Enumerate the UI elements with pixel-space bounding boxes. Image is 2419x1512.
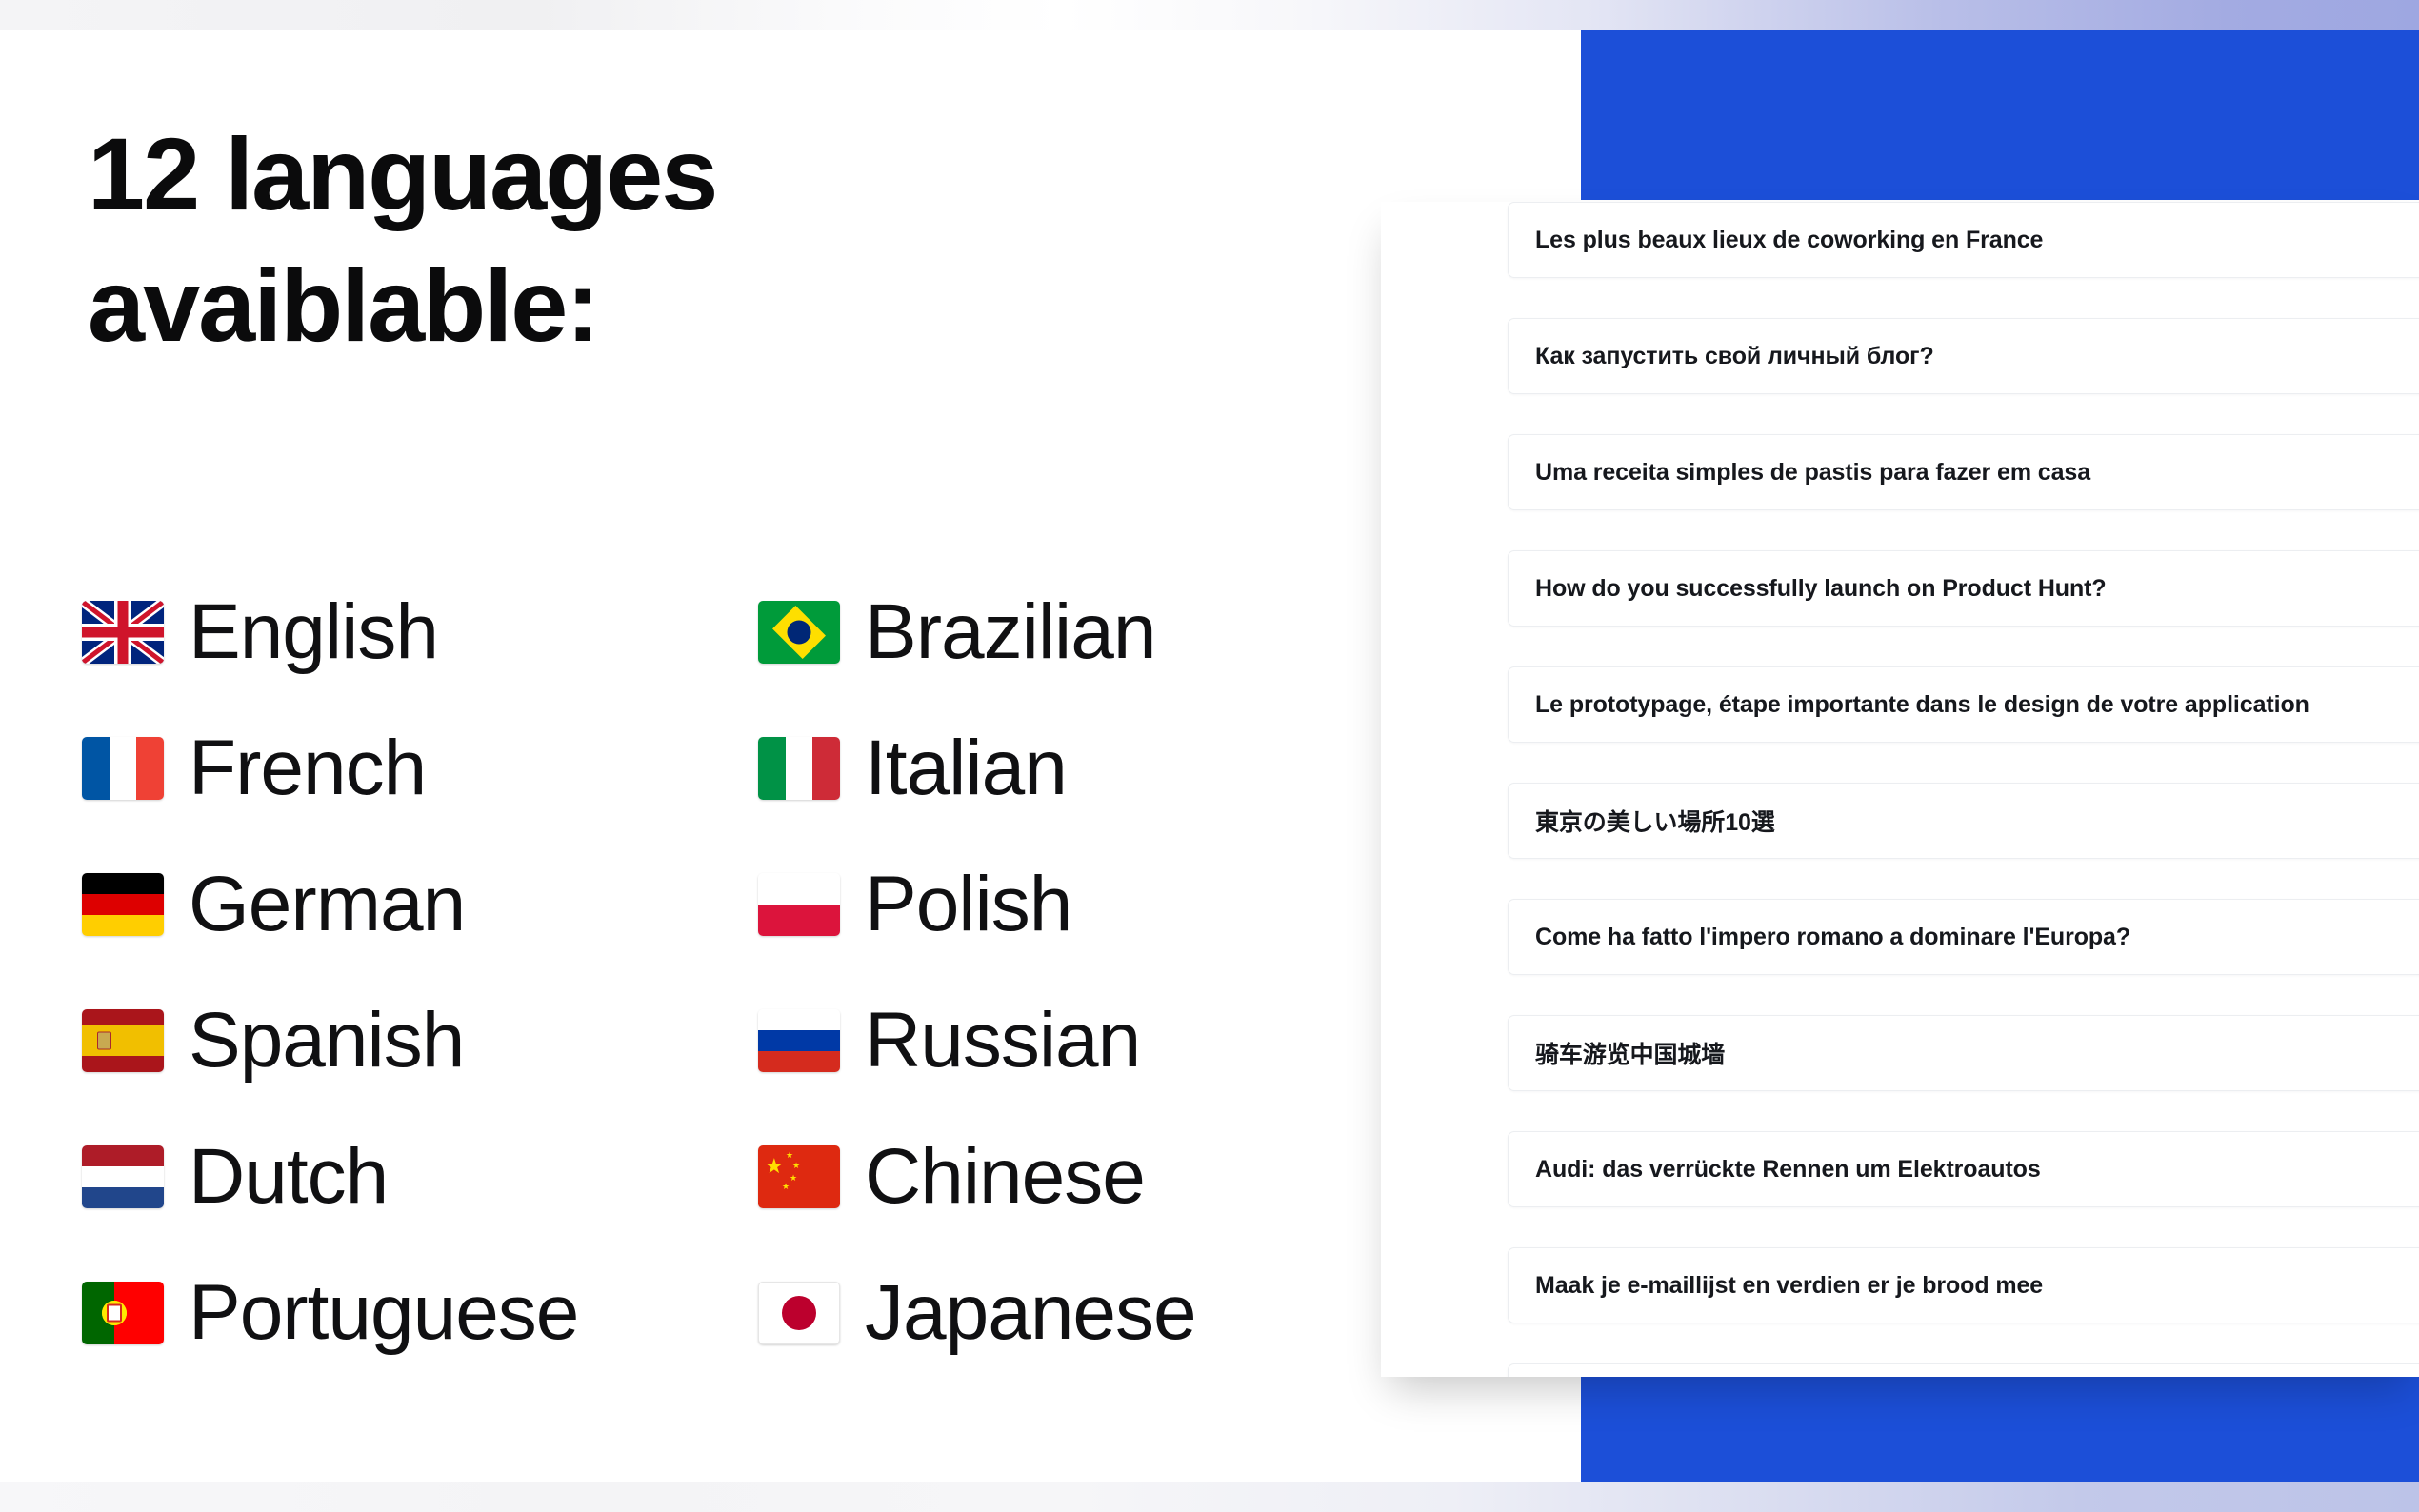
article-title: Uma receita simples de pastis para fazer…	[1535, 459, 2090, 487]
language-item-polish[interactable]: Polish	[758, 836, 1339, 972]
language-item-russian[interactable]: Russian	[758, 972, 1339, 1108]
bottom-gradient-bar	[0, 1482, 2419, 1512]
top-gradient-bar	[0, 0, 2419, 30]
language-item-french[interactable]: French	[82, 700, 758, 836]
language-item-italian[interactable]: Italian	[758, 700, 1339, 836]
article-title: Les plus beaux lieux de coworking en Fra…	[1535, 227, 2043, 254]
flag-china-icon: ★★★★★	[758, 1145, 840, 1208]
language-item-brazilian[interactable]: Brazilian	[758, 564, 1339, 700]
article-card[interactable]: Uma receita simples de pastis para fazer…	[1508, 434, 2419, 510]
blue-accent-block-bottom	[1581, 1369, 2419, 1482]
language-item-german[interactable]: German	[82, 836, 758, 972]
flag-united-kingdom-icon	[82, 601, 164, 664]
flag-portugal-icon	[82, 1282, 164, 1344]
flag-spain-icon	[82, 1009, 164, 1072]
language-grid: English Brazilian French Italian	[82, 564, 1339, 1381]
article-title: 骑车游览中国城墙	[1535, 1036, 1725, 1070]
article-card[interactable]: Audi: das verrückte Rennen um Elektroaut…	[1508, 1131, 2419, 1207]
flag-germany-icon	[82, 873, 164, 936]
language-label: French	[189, 729, 426, 807]
article-card[interactable]: 骑车游览中国城墙	[1508, 1015, 2419, 1091]
flag-italy-icon	[758, 737, 840, 800]
flag-japan-icon	[758, 1282, 840, 1344]
article-card[interactable]: Come ha fatto l'impero romano a dominare…	[1508, 899, 2419, 975]
article-card-partial[interactable]	[1508, 1363, 2419, 1377]
article-title: Come ha fatto l'impero romano a dominare…	[1535, 924, 2130, 951]
flag-france-icon	[82, 737, 164, 800]
flag-russia-icon	[758, 1009, 840, 1072]
language-label: English	[189, 593, 438, 671]
language-label: Portuguese	[189, 1274, 578, 1352]
language-item-dutch[interactable]: Dutch	[82, 1108, 758, 1244]
language-item-english[interactable]: English	[82, 564, 758, 700]
language-label: Russian	[865, 1002, 1140, 1080]
article-card[interactable]: Le prototypage, étape importante dans le…	[1508, 666, 2419, 743]
language-item-japanese[interactable]: Japanese	[758, 1244, 1339, 1381]
language-label: Polish	[865, 865, 1071, 944]
language-label: Dutch	[189, 1138, 388, 1216]
flag-brazil-icon	[758, 601, 840, 664]
article-title: 東京の美しい場所10選	[1535, 804, 1775, 838]
language-label: German	[189, 865, 465, 944]
flag-poland-icon	[758, 873, 840, 936]
slide-canvas: 12 languages avaiblable: English Brazili…	[0, 0, 2419, 1512]
article-card-list: Les plus beaux lieux de coworking en Fra…	[1508, 202, 2419, 1377]
article-card[interactable]: Maak je e-maillijst en verdien er je bro…	[1508, 1247, 2419, 1323]
page-title: 12 languages avaiblable:	[88, 109, 1135, 371]
article-card[interactable]: 東京の美しい場所10選	[1508, 783, 2419, 859]
language-label: Italian	[865, 729, 1067, 807]
language-label: Chinese	[865, 1138, 1145, 1216]
language-item-chinese[interactable]: ★★★★★ Chinese	[758, 1108, 1339, 1244]
article-card[interactable]: Les plus beaux lieux de coworking en Fra…	[1508, 202, 2419, 278]
language-item-portuguese[interactable]: Portuguese	[82, 1244, 758, 1381]
left-content-pane: 12 languages avaiblable: English Brazili…	[0, 30, 1381, 1482]
article-list-panel: Les plus beaux lieux de coworking en Fra…	[1381, 202, 2419, 1377]
language-label: Japanese	[865, 1274, 1196, 1352]
language-label: Spanish	[189, 1002, 464, 1080]
language-item-spanish[interactable]: Spanish	[82, 972, 758, 1108]
article-title: Maak je e-maillijst en verdien er je bro…	[1535, 1272, 2043, 1300]
article-title: Le prototypage, étape importante dans le…	[1535, 691, 2309, 719]
blue-accent-block-top	[1581, 30, 2419, 200]
article-card[interactable]: How do you successfully launch on Produc…	[1508, 550, 2419, 627]
language-label: Brazilian	[865, 593, 1155, 671]
article-title: Как запустить свой личный блог?	[1535, 343, 1934, 370]
flag-netherlands-icon	[82, 1145, 164, 1208]
article-title: How do you successfully launch on Produc…	[1535, 575, 2107, 603]
article-title: Audi: das verrückte Rennen um Elektroaut…	[1535, 1156, 2041, 1184]
article-card[interactable]: Как запустить свой личный блог?	[1508, 318, 2419, 394]
